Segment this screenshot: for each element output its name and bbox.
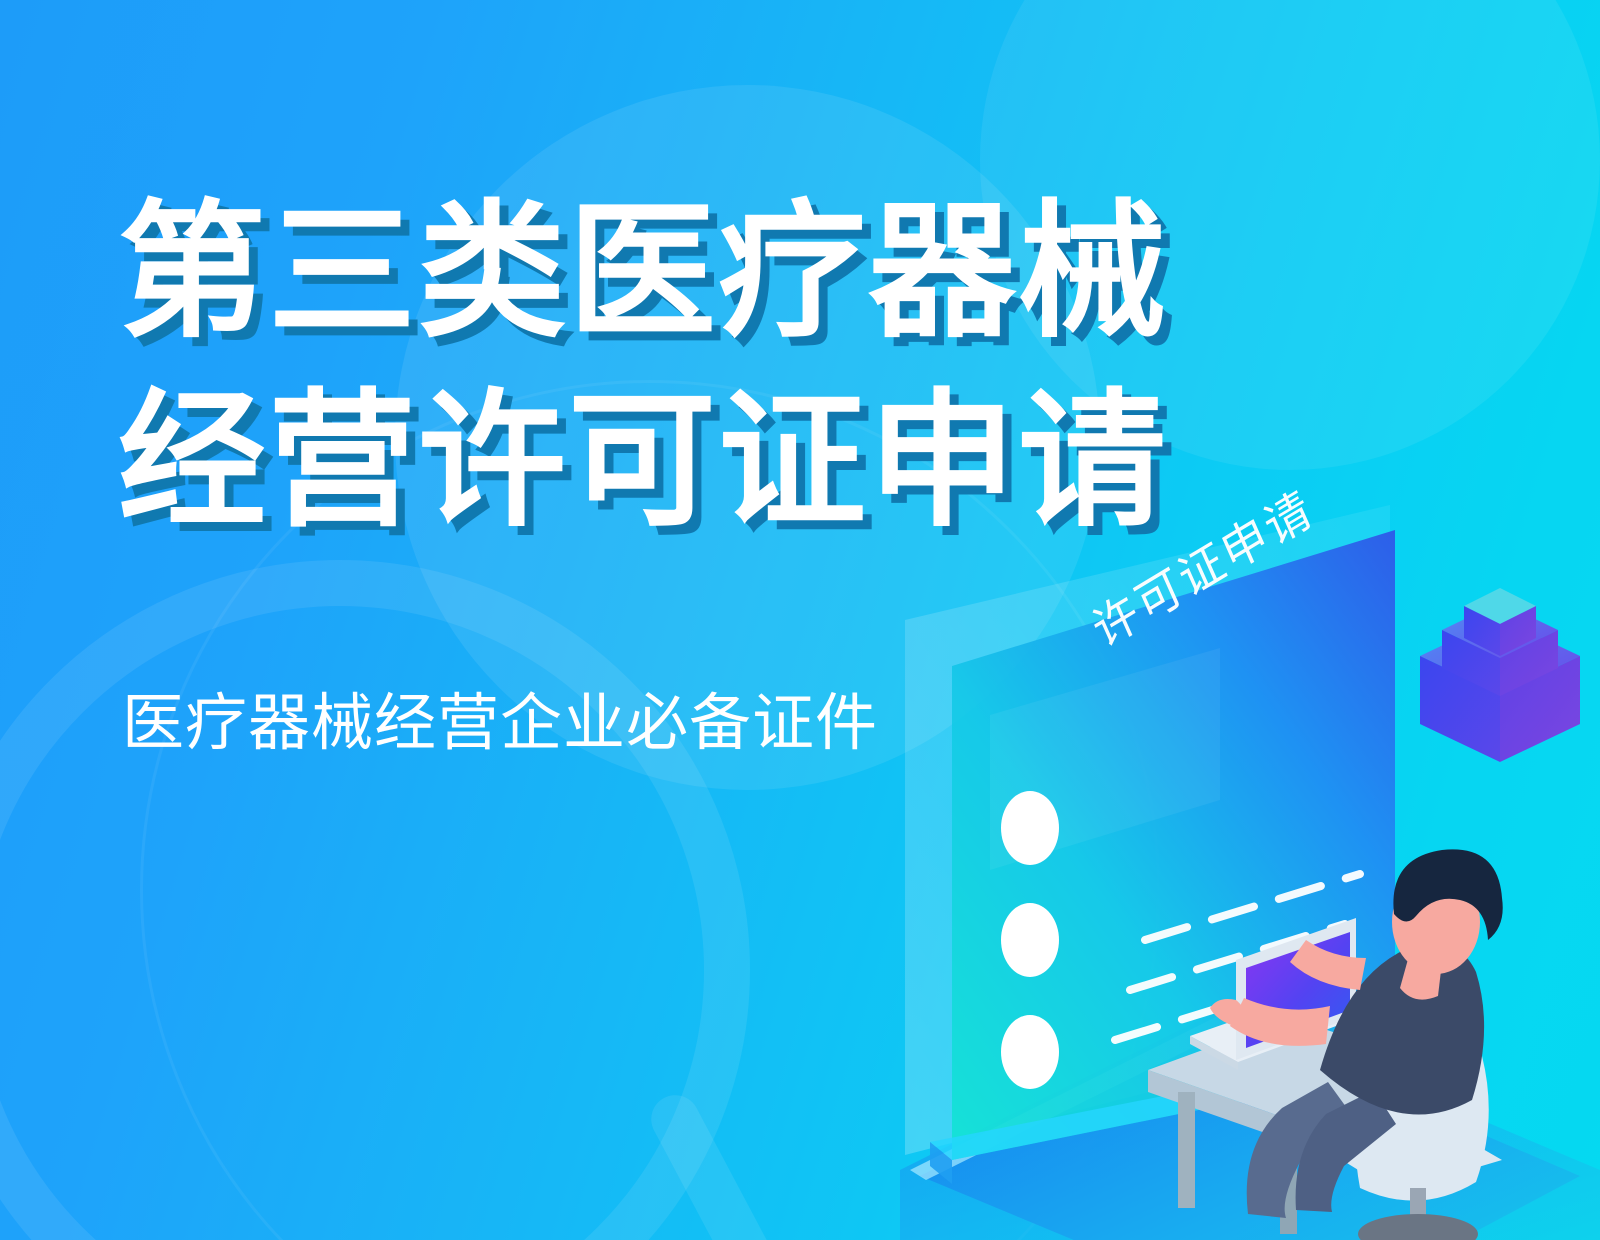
board-bullet-dot <box>1001 903 1059 977</box>
hero-illustration: 许可证申请 <box>890 470 1600 1240</box>
headline-line-1: 第三类医疗器械 <box>118 178 1168 367</box>
board-bullet-dot <box>1001 791 1059 865</box>
stacked-blocks-icon <box>1420 588 1580 762</box>
page-subtitle: 医疗器械经营企业必备证件 <box>122 672 878 762</box>
board-bullet-dot <box>1001 1015 1059 1089</box>
board-bullet-list <box>1001 791 1059 1089</box>
desk-leg <box>1178 1092 1195 1208</box>
banner-canvas: 第三类医疗器械 经营许可证申请 医疗器械经营企业必备证件 <box>0 0 1600 1240</box>
